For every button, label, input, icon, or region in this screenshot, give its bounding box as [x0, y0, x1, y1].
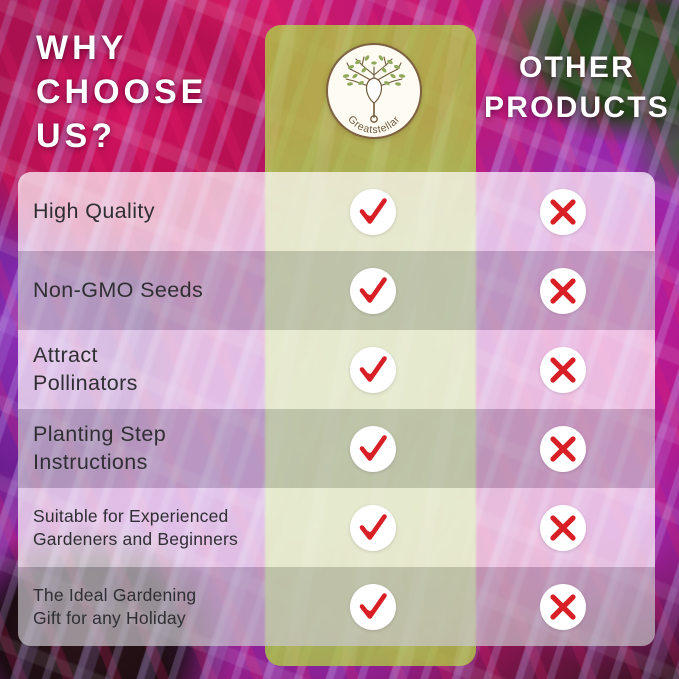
check-icon: [350, 347, 396, 393]
other-products-title: OTHER PRODUCTS: [478, 48, 676, 127]
check-icon: [350, 268, 396, 314]
feature-label-line: Gardeners and Beginners: [33, 528, 238, 551]
feature-label: High Quality: [33, 172, 283, 251]
check-icon: [350, 426, 396, 472]
page-title: WHY CHOOSE US?: [36, 26, 260, 159]
table-row: Non-GMO Seeds: [18, 251, 655, 330]
cross-icon: [540, 268, 586, 314]
comparison-table: High QualityNon-GMO SeedsAttractPollinat…: [18, 172, 655, 646]
check-icon: [350, 505, 396, 551]
table-row: The Ideal GardeningGift for any Holiday: [18, 567, 655, 646]
table-row: Suitable for ExperiencedGardeners and Be…: [18, 488, 655, 567]
cross-icon: [540, 426, 586, 472]
cross-icon: [540, 584, 586, 630]
table-row: AttractPollinators: [18, 330, 655, 409]
check-icon: [350, 584, 396, 630]
cross-icon: [540, 505, 586, 551]
feature-label-line: Attract: [33, 342, 138, 370]
feature-label-line: Non-GMO Seeds: [33, 277, 203, 305]
feature-label-line: Suitable for Experienced: [33, 505, 238, 528]
feature-label: AttractPollinators: [33, 330, 283, 409]
feature-label: Suitable for ExperiencedGardeners and Be…: [33, 488, 283, 567]
brand-logo-badge: Greatstellar: [326, 43, 422, 139]
feature-label: The Ideal GardeningGift for any Holiday: [33, 567, 283, 646]
feature-label-line: The Ideal Gardening: [33, 584, 196, 607]
table-row: Planting StepInstructions: [18, 409, 655, 488]
check-icon: [350, 189, 396, 235]
feature-label-line: Instructions: [33, 449, 166, 477]
feature-label: Non-GMO Seeds: [33, 251, 283, 330]
feature-label-line: High Quality: [33, 198, 155, 226]
cross-icon: [540, 347, 586, 393]
table-row: High Quality: [18, 172, 655, 251]
feature-label-line: Pollinators: [33, 370, 138, 398]
feature-label-line: Planting Step: [33, 421, 166, 449]
feature-label-line: Gift for any Holiday: [33, 607, 196, 630]
comparison-infographic: WHY CHOOSE US? OTHER PRODUCTS: [0, 0, 679, 679]
cross-icon: [540, 189, 586, 235]
feature-label: Planting StepInstructions: [33, 409, 283, 488]
